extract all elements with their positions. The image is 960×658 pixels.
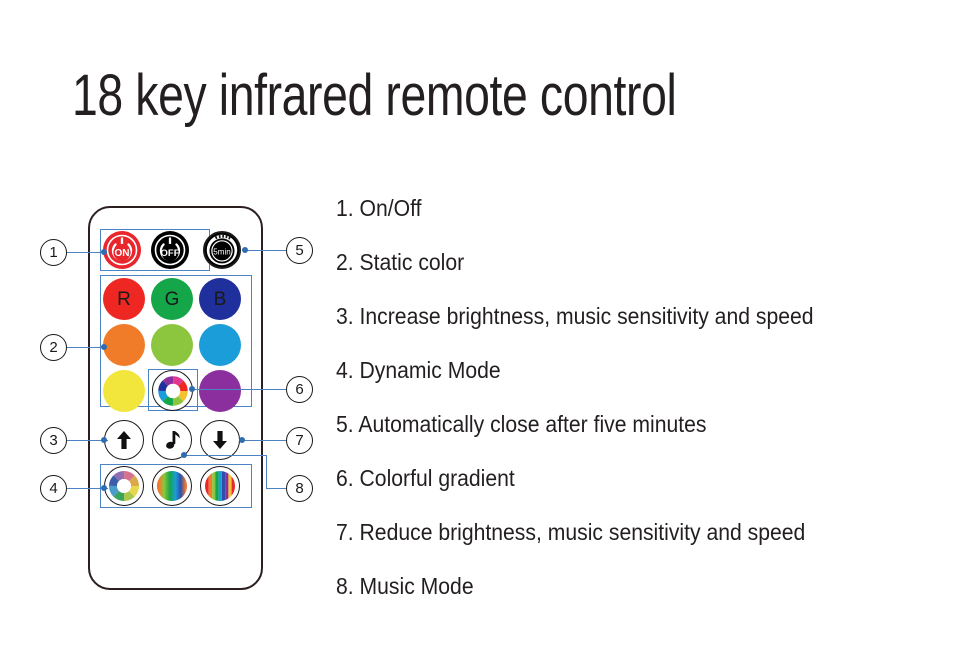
on-label: ON bbox=[115, 248, 130, 259]
dynamic-mode-button-1[interactable] bbox=[104, 466, 144, 506]
color-button-yellow[interactable] bbox=[103, 370, 145, 412]
legend-item-2: 2. Static color bbox=[336, 235, 888, 289]
legend-item-6: 6. Colorful gradient bbox=[336, 451, 888, 505]
rainbow-stripes-icon bbox=[202, 468, 238, 504]
five-minute-timer-button[interactable]: 5min bbox=[203, 231, 241, 269]
callout-7[interactable]: 7 bbox=[286, 427, 313, 454]
leader-line-6 bbox=[192, 389, 289, 390]
leader-line-5 bbox=[244, 250, 288, 251]
callout-6[interactable]: 6 bbox=[286, 376, 313, 403]
leader-line-8-vertical bbox=[266, 455, 267, 489]
leader-line-8-horizontal bbox=[266, 488, 288, 489]
leader-line-8-top bbox=[184, 455, 267, 456]
off-button[interactable]: OFF bbox=[151, 231, 189, 269]
color-button-blue[interactable]: B bbox=[199, 278, 241, 320]
dynamic-mode-button-2[interactable] bbox=[152, 466, 192, 506]
colorful-gradient-button[interactable] bbox=[152, 370, 193, 411]
power-icon: OFF bbox=[151, 231, 189, 269]
color-button-orange[interactable] bbox=[103, 324, 145, 366]
legend-list: 1. On/Off 2. Static color 3. Increase br… bbox=[336, 181, 936, 613]
leader-dot-7 bbox=[239, 437, 245, 443]
legend-item-7: 7. Reduce brightness, music sensitivity … bbox=[336, 505, 888, 559]
color-button-purple[interactable] bbox=[199, 370, 241, 412]
leader-dot-3 bbox=[101, 437, 107, 443]
color-label-r: R bbox=[117, 290, 131, 309]
color-button-cyan-blue[interactable] bbox=[199, 324, 241, 366]
callout-5[interactable]: 5 bbox=[286, 237, 313, 264]
callout-1[interactable]: 1 bbox=[40, 239, 67, 266]
legend-item-5: 5. Automatically close after five minute… bbox=[336, 397, 888, 451]
dynamic-mode-button-3[interactable] bbox=[200, 466, 240, 506]
timer-label: 5min bbox=[213, 247, 230, 256]
callout-4[interactable]: 4 bbox=[40, 475, 67, 502]
rainbow-gradient-icon bbox=[154, 468, 190, 504]
legend-item-1: 1. On/Off bbox=[336, 181, 888, 235]
callout-3[interactable]: 3 bbox=[40, 427, 67, 454]
callout-2[interactable]: 2 bbox=[40, 334, 67, 361]
music-note-icon bbox=[159, 427, 185, 453]
legend-item-3: 3. Increase brightness, music sensitivit… bbox=[336, 289, 888, 343]
color-wheel-icon bbox=[155, 373, 191, 409]
on-button[interactable]: ON bbox=[103, 231, 141, 269]
legend-item-4: 4. Dynamic Mode bbox=[336, 343, 888, 397]
leader-dot-2 bbox=[101, 344, 107, 350]
brightness-up-button[interactable] bbox=[104, 420, 144, 460]
leader-dot-8 bbox=[181, 452, 187, 458]
callout-8[interactable]: 8 bbox=[286, 475, 313, 502]
leader-dot-4 bbox=[101, 485, 107, 491]
color-button-red[interactable]: R bbox=[103, 278, 145, 320]
color-label-g: G bbox=[165, 290, 180, 309]
color-button-green[interactable]: G bbox=[151, 278, 193, 320]
page-title: 18 key infrared remote control bbox=[72, 58, 676, 134]
arrow-down-icon bbox=[208, 428, 232, 452]
leader-dot-1 bbox=[101, 249, 107, 255]
legend-item-8: 8. Music Mode bbox=[336, 559, 888, 613]
color-button-light-green[interactable] bbox=[151, 324, 193, 366]
leader-dot-5 bbox=[242, 247, 248, 253]
arrow-up-icon bbox=[112, 428, 136, 452]
color-label-b: B bbox=[214, 290, 227, 309]
power-icon: ON bbox=[103, 231, 141, 269]
brightness-down-button[interactable] bbox=[200, 420, 240, 460]
off-label: OFF bbox=[161, 248, 180, 259]
timer-icon: 5min bbox=[205, 231, 239, 269]
leader-line-7 bbox=[242, 440, 288, 441]
leader-dot-6 bbox=[189, 386, 195, 392]
color-wheel-icon bbox=[106, 468, 142, 504]
